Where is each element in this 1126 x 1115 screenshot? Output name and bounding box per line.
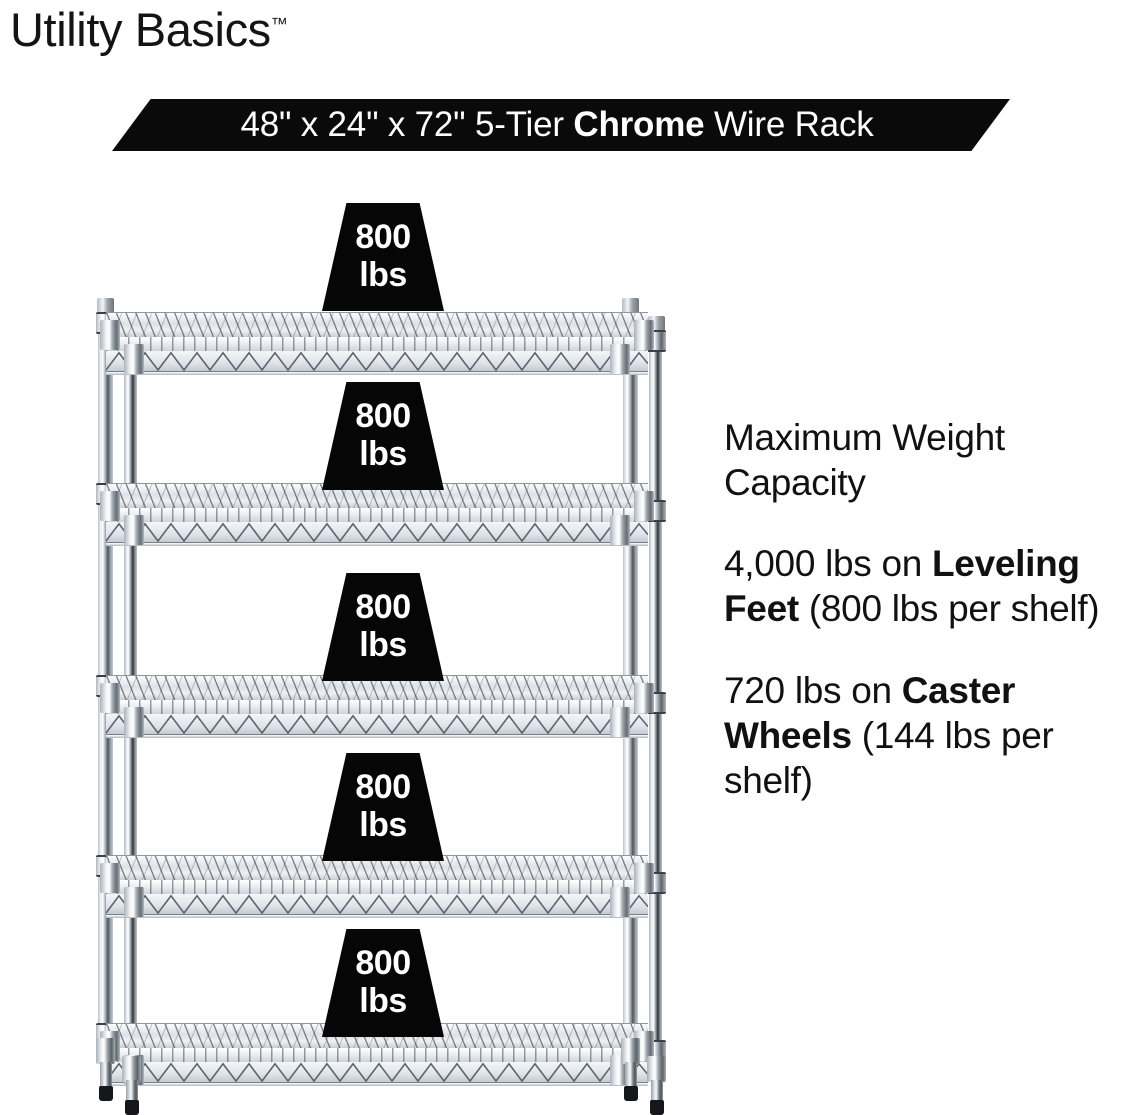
shelf-rail-5: [106, 1083, 648, 1086]
rack-post-back-right: [623, 304, 638, 1044]
shelf-rail-2: [106, 543, 648, 546]
leveling-foot-collar-back-left: [96, 1038, 115, 1064]
leveling-foot-tip-front-right: [650, 1100, 664, 1115]
banner-material: Chrome: [573, 105, 704, 144]
shelf-bracket-1-front-right: [610, 344, 630, 374]
shelf-bracket-3-front-right: [610, 707, 630, 737]
shelf-band-1: [106, 337, 648, 352]
weight-callout-number-3: 800: [355, 589, 410, 625]
banner-dimensions: 48" x 24" x 72": [240, 105, 465, 144]
rack-post-back-left: [98, 304, 113, 1044]
post-cap-back-left: [97, 298, 114, 312]
leveling-foot-collar-back-right: [621, 1038, 640, 1064]
leveling-foot-tip-front-left: [125, 1100, 139, 1115]
shelf-bracket-3-left: [100, 683, 120, 713]
product-title-banner: 48" x 24" x 72" 5-Tier Chrome Wire Rack: [112, 99, 1010, 151]
brand-title: Utility Basics™: [10, 2, 288, 57]
leveling-total: 4,000 lbs on: [724, 543, 932, 584]
shelf-truss-1: [106, 351, 648, 373]
specs-heading: Maximum Weight Capacity: [724, 415, 1116, 505]
leveling-foot-collar-front-left: [122, 1056, 141, 1082]
post-cap-back-right: [622, 298, 639, 312]
shelf-bracket-4-front-right: [610, 887, 630, 917]
shelf-bracket-1-right: [634, 320, 654, 350]
shelf-band-2: [106, 508, 648, 523]
shelf-deck-1: [106, 312, 648, 338]
shelf-bracket-4-right: [634, 863, 654, 893]
shelf-bracket-2-left: [100, 491, 120, 521]
truss-zigzag-icon: [106, 714, 648, 734]
caster-total: 720 lbs on: [724, 670, 902, 711]
shelf-band-4: [106, 880, 648, 895]
shelf-rail-4: [106, 915, 648, 918]
weight-callout-number-2: 800: [355, 398, 410, 434]
shelf-bracket-1-left: [100, 320, 120, 350]
shelf-band-5: [106, 1048, 648, 1063]
weight-callout-unit-3: lbs: [359, 625, 407, 665]
shelf-truss-4: [106, 894, 648, 916]
shelf-bracket-1-front-left: [124, 344, 144, 374]
leveling-foot-tip-back-right: [624, 1086, 638, 1101]
truss-zigzag-icon: [106, 894, 648, 914]
banner-product: Wire Rack: [714, 105, 874, 144]
shelf-truss-3: [106, 714, 648, 736]
shelf-bracket-2-front-left: [124, 515, 144, 545]
spec-caster-wheels: 720 lbs on Caster Wheels (144 lbs per sh…: [724, 668, 1116, 803]
shelf-truss-2: [106, 522, 648, 544]
leveling-foot-stem-back-left: [100, 1062, 112, 1088]
truss-zigzag-icon: [106, 522, 648, 542]
weight-callout-unit-5: lbs: [359, 981, 407, 1021]
specs-copy-block: Maximum Weight Capacity 4,000 lbs on Lev…: [724, 415, 1116, 803]
shelf-bracket-3-right: [634, 683, 654, 713]
weight-callout-unit-4: lbs: [359, 805, 407, 845]
leveling-detail: (800 lbs per shelf): [799, 588, 1099, 629]
truss-zigzag-icon: [106, 351, 648, 371]
weight-callout-number-1: 800: [355, 219, 410, 255]
shelf-rail-1: [106, 372, 648, 375]
shelf-truss-5: [106, 1062, 648, 1084]
leveling-foot-collar-front-right: [647, 1056, 666, 1082]
weight-callout-number-5: 800: [355, 945, 410, 981]
leveling-foot-stem-back-right: [625, 1062, 637, 1088]
weight-callout-number-4: 800: [355, 769, 410, 805]
shelf-bracket-4-left: [100, 863, 120, 893]
shelf-bracket-3-front-left: [124, 707, 144, 737]
shelf-bracket-4-front-left: [124, 887, 144, 917]
truss-zigzag-icon: [106, 1062, 648, 1082]
shelf-bracket-2-right: [634, 491, 654, 521]
spec-leveling-feet: 4,000 lbs on Leveling Feet (800 lbs per …: [724, 541, 1116, 631]
shelf-rail-3: [106, 735, 648, 738]
shelf-bracket-2-front-right: [610, 515, 630, 545]
brand-name: Utility Basics: [10, 3, 271, 56]
banner-tier: 5-Tier: [475, 105, 564, 144]
leveling-foot-tip-back-left: [99, 1086, 113, 1101]
banner-text: 48" x 24" x 72" 5-Tier Chrome Wire Rack: [240, 105, 873, 145]
weight-callout-unit-2: lbs: [359, 434, 407, 474]
weight-callout-unit-1: lbs: [359, 255, 407, 295]
trademark-symbol: ™: [271, 14, 288, 33]
shelf-band-3: [106, 700, 648, 715]
